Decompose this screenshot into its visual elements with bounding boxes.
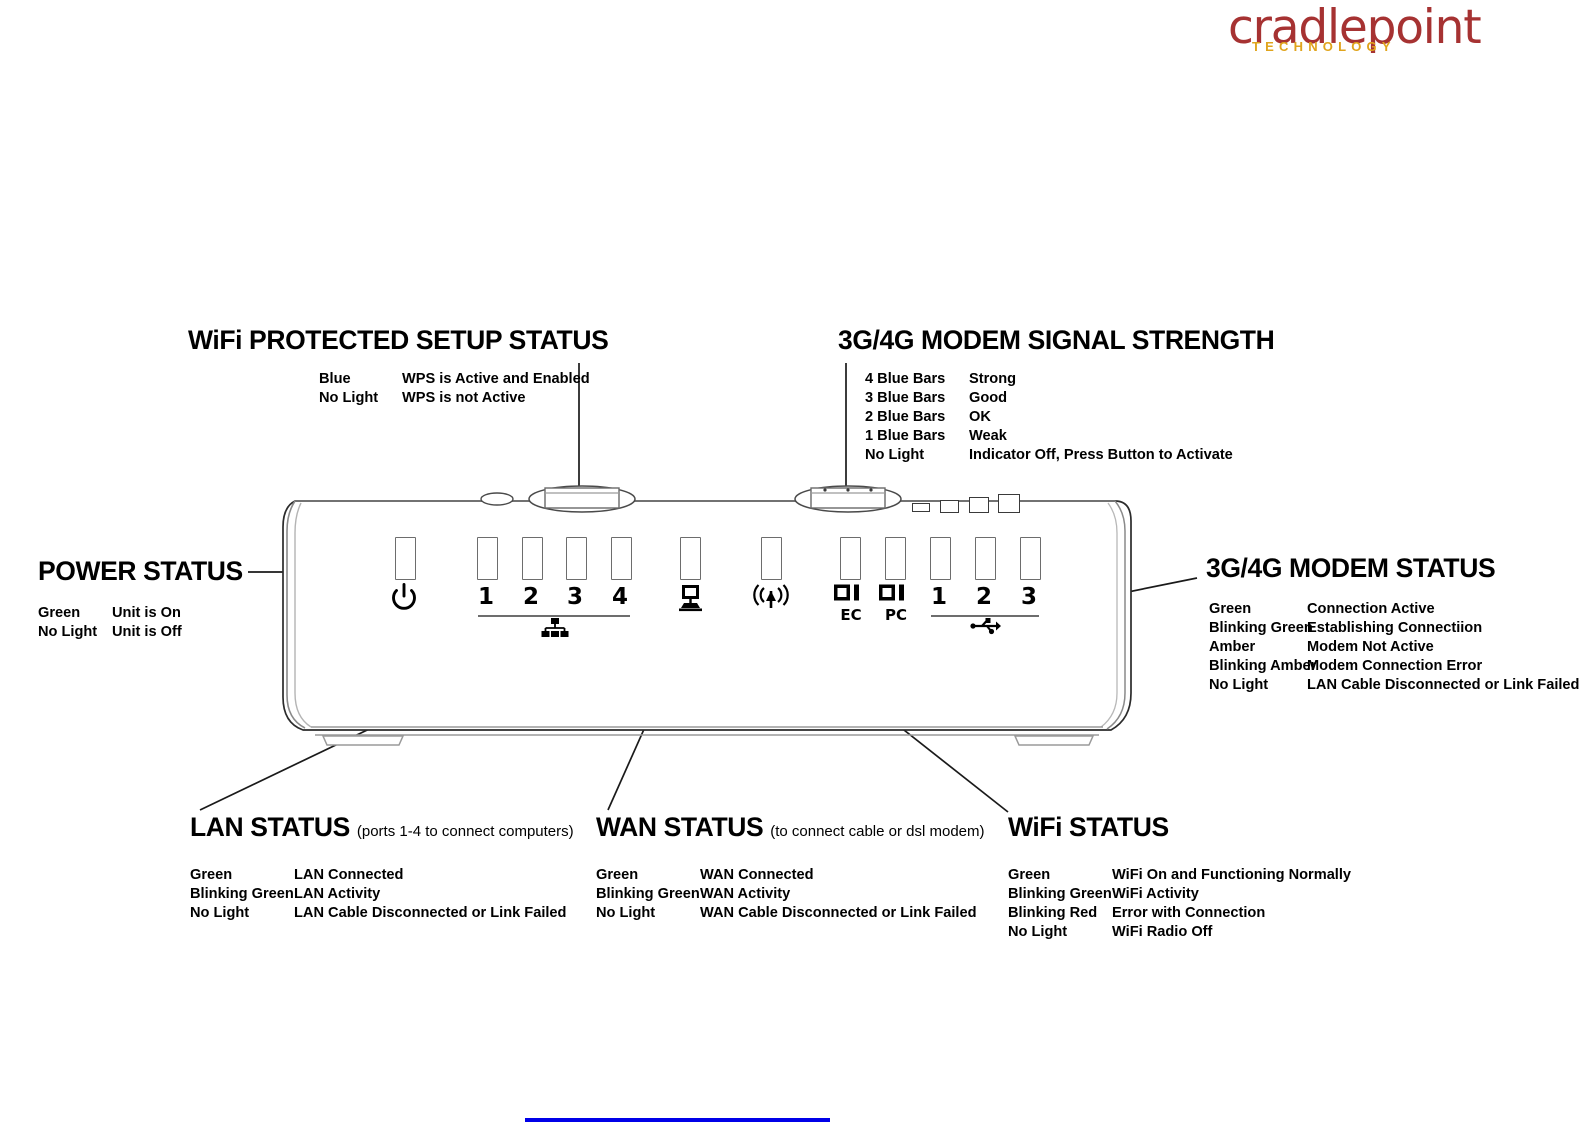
legend-row: 3 Blue Bars Good <box>865 389 1274 408</box>
legend-row: No Light WiFi Radio Off <box>1008 923 1351 942</box>
legend-row: Blinking Green LAN Activity <box>190 885 574 904</box>
legend-row: No Light WPS is not Active <box>319 389 608 408</box>
legend-meaning: Good <box>969 389 1007 408</box>
power-legend: Green Unit is On No Light Unit is Off <box>38 604 243 642</box>
wps-button[interactable] <box>527 483 637 515</box>
legend-row: Blinking Red Error with Connection <box>1008 904 1351 923</box>
legend-row: No Light Indicator Off, Press Button to … <box>865 446 1274 465</box>
legend-state: No Light <box>865 446 969 465</box>
legend-row: Blinking Green WiFi Activity <box>1008 885 1351 904</box>
lan-port-label-1: 1 <box>475 586 497 609</box>
led-lan-4 <box>611 537 632 580</box>
legend-state: Green <box>38 604 112 623</box>
legend-meaning: WAN Cable Disconnected or Link Failed <box>700 904 977 923</box>
legend-state: Blinking Amber <box>1209 657 1307 676</box>
callout-wps: WiFi PROTECTED SETUP STATUS Blue WPS is … <box>188 325 608 408</box>
legend-row: 1 Blue Bars Weak <box>865 427 1274 446</box>
legend-row: No Light LAN Cable Disconnected or Link … <box>1209 676 1579 695</box>
legend-row: No Light WAN Cable Disconnected or Link … <box>596 904 985 923</box>
legend-meaning: Connection Active <box>1307 600 1435 619</box>
legend-state: No Light <box>319 389 402 408</box>
legend-meaning: Unit is Off <box>112 623 182 642</box>
legend-row: Green Unit is On <box>38 604 243 623</box>
wps-legend: Blue WPS is Active and Enabled No Light … <box>319 370 608 408</box>
legend-meaning: WiFi Radio Off <box>1112 923 1212 942</box>
legend-row: Amber Modem Not Active <box>1209 638 1579 657</box>
lan-title: LAN STATUS (ports 1-4 to connect compute… <box>190 812 574 847</box>
callout-wifi-status: WiFi STATUS Green WiFi On and Functionin… <box>1008 812 1351 942</box>
legend-meaning: Establishing Connectiion <box>1307 619 1482 638</box>
legend-meaning: WPS is Active and Enabled <box>402 370 590 389</box>
footer-link-underline[interactable] <box>525 1118 830 1122</box>
signal-bar-1 <box>912 503 930 512</box>
callout-wan-status: WAN STATUS (to connect cable or dsl mode… <box>596 812 985 923</box>
cradlepoint-logo: cradlepoint TECHNOLOGY <box>1228 4 1488 66</box>
legend-state: Blinking Green <box>190 885 294 904</box>
wan-title-main: WAN STATUS <box>596 812 763 842</box>
wan-title-sub: (to connect cable or dsl modem) <box>770 823 984 840</box>
led-pc-slot <box>885 537 906 580</box>
lan-title-main: LAN STATUS <box>190 812 350 842</box>
legend-state: No Light <box>38 623 112 642</box>
legend-meaning: Weak <box>969 427 1007 446</box>
legend-row: No Light LAN Cable Disconnected or Link … <box>190 904 574 923</box>
callout-power-status: POWER STATUS Green Unit is On No Light U… <box>38 556 243 642</box>
legend-row: No Light Unit is Off <box>38 623 243 642</box>
legend-state: Green <box>1209 600 1307 619</box>
legend-state: 2 Blue Bars <box>865 408 969 427</box>
legend-meaning: Modem Not Active <box>1307 638 1434 657</box>
chassis-foot-right <box>1015 736 1093 745</box>
wan-legend: Green WAN Connected Blinking Green WAN A… <box>596 866 985 923</box>
legend-state: No Light <box>596 904 700 923</box>
lan-port-label-4: 4 <box>609 586 631 609</box>
legend-state: Blinking Green <box>1209 619 1307 638</box>
desktop-computer-icon <box>674 583 706 613</box>
signal-bar-3 <box>969 497 989 513</box>
legend-row: Green WAN Connected <box>596 866 985 885</box>
logo-tagline-text: TECHNOLOGY <box>1252 39 1396 54</box>
callout-lan-status: LAN STATUS (ports 1-4 to connect compute… <box>190 812 574 923</box>
signal-bar-2 <box>940 500 959 513</box>
wifi-title-main: WiFi STATUS <box>1008 812 1169 842</box>
signal-bar-4 <box>998 494 1020 513</box>
legend-meaning: Modem Connection Error <box>1307 657 1482 676</box>
led-lan-1 <box>477 537 498 580</box>
expresscard-slot-icon <box>832 583 868 602</box>
legend-state: No Light <box>190 904 294 923</box>
lan-group-rule <box>478 615 630 617</box>
signal-legend: 4 Blue Bars Strong 3 Blue Bars Good 2 Bl… <box>865 370 1274 465</box>
legend-row: 4 Blue Bars Strong <box>865 370 1274 389</box>
power-symbol-icon <box>388 583 420 613</box>
legend-state: Amber <box>1209 638 1307 657</box>
legend-state: Green <box>1008 866 1112 885</box>
usb-port-label-2: 2 <box>973 586 995 609</box>
signal-title: 3G/4G MODEM SIGNAL STRENGTH <box>838 325 1274 355</box>
router-chassis <box>275 487 1135 749</box>
pccard-slot-icon <box>877 583 913 602</box>
modem-legend: Green Connection Active Blinking Green E… <box>1209 600 1579 695</box>
modem-title: 3G/4G MODEM STATUS <box>1206 553 1579 583</box>
usb-trident-icon <box>970 617 1002 635</box>
led-wan <box>680 537 701 580</box>
legend-state: Blinking Green <box>596 885 700 904</box>
led-lan-2 <box>522 537 543 580</box>
wifi-title: WiFi STATUS <box>1008 812 1351 847</box>
callout-modem-status: 3G/4G MODEM STATUS Green Connection Acti… <box>1206 553 1579 695</box>
legend-meaning: LAN Connected <box>294 866 403 885</box>
legend-row: Green Connection Active <box>1209 600 1579 619</box>
legend-meaning: WAN Activity <box>700 885 790 904</box>
legend-row: Green WiFi On and Functioning Normally <box>1008 866 1351 885</box>
led-power <box>395 537 416 580</box>
ethernet-network-icon <box>541 618 569 638</box>
legend-row: Blinking Green Establishing Connectiion <box>1209 619 1579 638</box>
legend-meaning: Unit is On <box>112 604 181 623</box>
led-usb-1 <box>930 537 951 580</box>
led-wifi <box>761 537 782 580</box>
legend-state: Blinking Red <box>1008 904 1112 923</box>
legend-row: 2 Blue Bars OK <box>865 408 1274 427</box>
signal-strength-button[interactable] <box>793 483 903 515</box>
usb-port-label-3: 3 <box>1018 586 1040 609</box>
router-device-illustration: 1 2 3 4 EC <box>275 487 1135 749</box>
pc-slot-label: PC <box>881 604 911 627</box>
legend-meaning: LAN Cable Disconnected or Link Failed <box>294 904 566 923</box>
legend-meaning: WiFi Activity <box>1112 885 1199 904</box>
callout-signal-strength: 3G/4G MODEM SIGNAL STRENGTH 4 Blue Bars … <box>838 325 1274 465</box>
lan-legend: Green LAN Connected Blinking Green LAN A… <box>190 866 574 923</box>
legend-state: Blue <box>319 370 402 389</box>
legend-state: No Light <box>1209 676 1307 695</box>
legend-meaning: Error with Connection <box>1112 904 1265 923</box>
legend-meaning: WiFi On and Functioning Normally <box>1112 866 1351 885</box>
legend-state: No Light <box>1008 923 1112 942</box>
legend-meaning: LAN Cable Disconnected or Link Failed <box>1307 676 1579 695</box>
legend-state: 1 Blue Bars <box>865 427 969 446</box>
reset-pinhole-icon <box>477 488 517 510</box>
legend-meaning: Indicator Off, Press Button to Activate <box>969 446 1233 465</box>
legend-meaning: Strong <box>969 370 1016 389</box>
lan-port-label-3: 3 <box>564 586 586 609</box>
legend-meaning: WAN Connected <box>700 866 814 885</box>
legend-row: Blinking Amber Modem Connection Error <box>1209 657 1579 676</box>
ec-slot-label: EC <box>836 604 866 627</box>
led-lan-3 <box>566 537 587 580</box>
chassis-foot-left <box>323 736 403 745</box>
wan-title: WAN STATUS (to connect cable or dsl mode… <box>596 812 985 847</box>
legend-row: Green LAN Connected <box>190 866 574 885</box>
legend-state: 4 Blue Bars <box>865 370 969 389</box>
legend-state: 3 Blue Bars <box>865 389 969 408</box>
legend-meaning: LAN Activity <box>294 885 380 904</box>
led-usb-3 <box>1020 537 1041 580</box>
lan-port-label-2: 2 <box>520 586 542 609</box>
legend-state: Blinking Green <box>1008 885 1112 904</box>
lan-title-sub: (ports 1-4 to connect computers) <box>357 823 574 840</box>
wifi-antenna-icon <box>749 583 793 613</box>
legend-meaning: OK <box>969 408 991 427</box>
legend-state: Green <box>190 866 294 885</box>
legend-meaning: WPS is not Active <box>402 389 526 408</box>
usb-port-label-1: 1 <box>928 586 950 609</box>
wps-title: WiFi PROTECTED SETUP STATUS <box>188 325 608 355</box>
led-ec-slot <box>840 537 861 580</box>
legend-state: Green <box>596 866 700 885</box>
legend-row: Blinking Green WAN Activity <box>596 885 985 904</box>
power-title: POWER STATUS <box>38 556 243 586</box>
legend-row: Blue WPS is Active and Enabled <box>319 370 608 389</box>
led-usb-2 <box>975 537 996 580</box>
wifi-legend: Green WiFi On and Functioning Normally B… <box>1008 866 1351 942</box>
